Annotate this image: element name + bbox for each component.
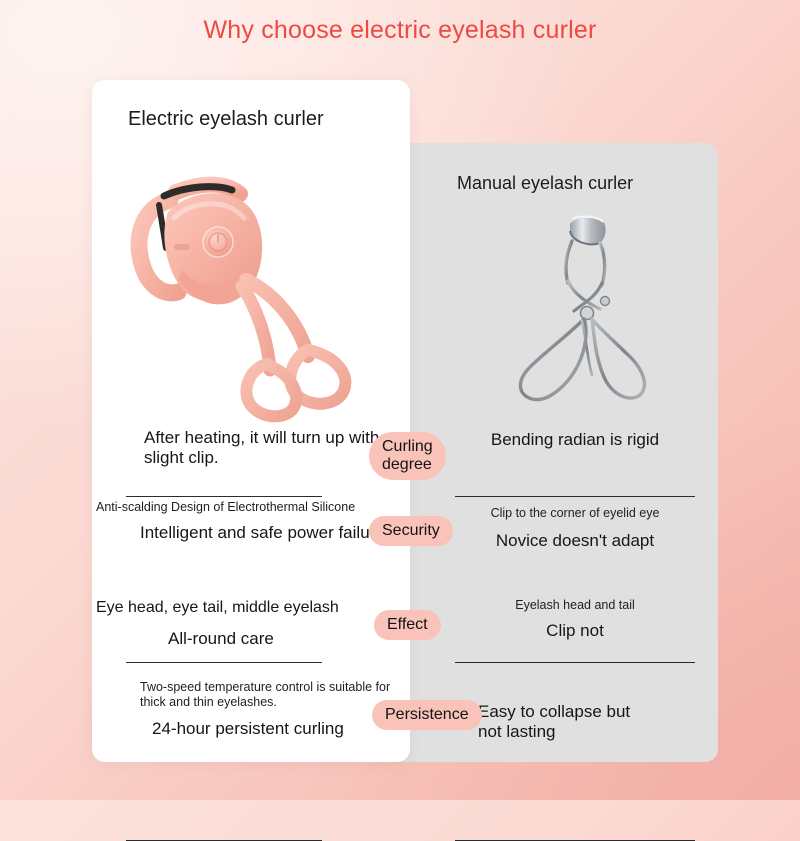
feature-highlight: Novice doesn't adapt: [440, 531, 710, 551]
feature-row-security-left: Anti-scalding Design of Electrothermal S…: [96, 500, 396, 598]
feature-caption: Clip to the corner of eyelid eye: [440, 506, 710, 521]
page-title: Why choose electric eyelash curler: [0, 16, 800, 45]
criterion-pill-curling-degree: Curling degree: [369, 432, 446, 480]
feature-caption: Anti-scalding Design of Electrothermal S…: [96, 500, 396, 515]
feature-caption: Eyelash head and tail: [440, 598, 710, 613]
feature-highlight: 24-hour persistent curling: [152, 719, 396, 739]
criterion-pill-persistence: Persistence: [372, 700, 482, 730]
electric-eyelash-curler-icon: [112, 160, 382, 425]
criterion-pill-security: Security: [369, 516, 453, 546]
feature-highlight: Easy to collapse but not lasting: [478, 702, 658, 743]
manual-panel-heading: Manual eyelash curler: [457, 173, 633, 194]
manual-eyelash-curler-icon: [492, 203, 682, 415]
row-divider: [126, 496, 322, 497]
criterion-pill-effect: Effect: [374, 610, 441, 640]
feature-row-curling-degree-right: Bending radian is rigid: [440, 428, 710, 500]
feature-row-security-right: Clip to the corner of eyelid eye Novice …: [440, 500, 710, 598]
feature-highlight: Clip not: [440, 621, 710, 641]
feature-highlight: Intelligent and safe power failure: [140, 523, 396, 543]
feature-row-effect-right: Eyelash head and tail Clip not: [440, 598, 710, 676]
feature-highlight: Bending radian is rigid: [440, 430, 710, 450]
feature-highlight: All-round care: [168, 629, 396, 649]
row-divider: [455, 496, 695, 497]
feature-caption: Eye head, eye tail, middle eyelash: [96, 598, 396, 617]
feature-row-persistence-left: Two-speed temperature control is suitabl…: [96, 676, 396, 766]
feature-row-curling-degree-left: After heating, it will turn up with a sl…: [96, 428, 396, 500]
feature-caption: Two-speed temperature control is suitabl…: [140, 680, 396, 711]
feature-row-effect-left: Eye head, eye tail, middle eyelash All-r…: [96, 598, 396, 676]
feature-highlight: After heating, it will turn up with a sl…: [144, 428, 396, 469]
electric-panel-heading: Electric eyelash curler: [128, 108, 324, 131]
